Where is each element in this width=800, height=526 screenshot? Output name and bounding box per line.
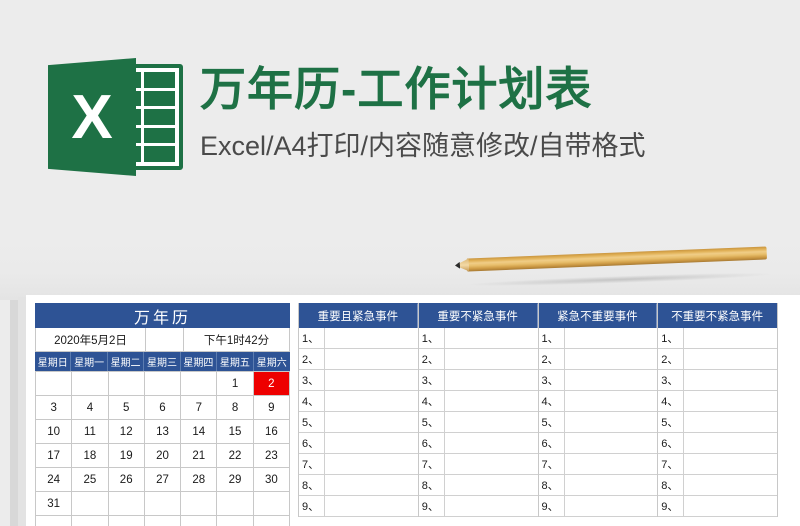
matrix-row-value-0-7[interactable] xyxy=(325,475,418,495)
matrix-row-number-3-6: 7、 xyxy=(658,454,684,474)
matrix-row: 6、 xyxy=(419,433,538,454)
calendar-blank-cell[interactable] xyxy=(146,328,184,351)
calendar-day-29[interactable]: 29 xyxy=(217,468,253,492)
matrix-row-number-2-2: 3、 xyxy=(539,370,565,390)
calendar-day-23[interactable]: 23 xyxy=(254,444,290,468)
matrix-row: 3、 xyxy=(419,370,538,391)
matrix-row-value-0-2[interactable] xyxy=(325,370,418,390)
matrix-row-value-3-2[interactable] xyxy=(684,370,777,390)
matrix-row-value-3-0[interactable] xyxy=(684,328,777,348)
calendar-day-20[interactable]: 20 xyxy=(145,444,181,468)
calendar-weekday-2: 星期二 xyxy=(108,352,144,371)
matrix-row-value-0-5[interactable] xyxy=(325,433,418,453)
matrix-row-number-0-7: 8、 xyxy=(299,475,325,495)
matrix-row-value-2-1[interactable] xyxy=(565,349,658,369)
calendar-day-9[interactable]: 9 xyxy=(254,396,290,420)
matrix-row: 1、 xyxy=(299,328,418,349)
matrix-row-value-1-1[interactable] xyxy=(445,349,538,369)
calendar-date-cell[interactable]: 2020年5月2日 xyxy=(36,328,146,351)
calendar-weekday-header: 星期日星期一星期二星期三星期四星期五星期六 xyxy=(35,352,290,371)
matrix-row-value-0-4[interactable] xyxy=(325,412,418,432)
matrix-row: 5、 xyxy=(658,412,777,433)
matrix-row: 2、 xyxy=(419,349,538,370)
matrix-row: 6、 xyxy=(658,433,777,454)
calendar-weekday-4: 星期四 xyxy=(181,352,217,371)
matrix-row: 4、 xyxy=(658,391,777,412)
calendar-day-22[interactable]: 22 xyxy=(217,444,253,468)
matrix-row-number-1-8: 9、 xyxy=(419,496,445,516)
calendar-day-empty xyxy=(145,516,181,526)
matrix-row-value-1-6[interactable] xyxy=(445,454,538,474)
matrix-row-value-2-5[interactable] xyxy=(565,433,658,453)
matrix-row-number-0-3: 4、 xyxy=(299,391,325,411)
matrix-row-value-2-7[interactable] xyxy=(565,475,658,495)
matrix-column-header-2: 紧急不重要事件 xyxy=(539,303,658,328)
matrix-row-number-2-8: 9、 xyxy=(539,496,565,516)
calendar-weekday-1: 星期一 xyxy=(71,352,107,371)
matrix-row: 1、 xyxy=(539,328,658,349)
matrix-row-number-1-2: 3、 xyxy=(419,370,445,390)
calendar-days-grid[interactable]: 1234567891011121314151617181920212223242… xyxy=(35,371,290,526)
calendar-day-14[interactable]: 14 xyxy=(181,420,217,444)
calendar-day-3[interactable]: 3 xyxy=(36,396,72,420)
matrix-row: 3、 xyxy=(658,370,777,391)
matrix-row-value-1-0[interactable] xyxy=(445,328,538,348)
calendar-day-empty xyxy=(181,492,217,516)
calendar-day-28[interactable]: 28 xyxy=(181,468,217,492)
matrix-row-number-0-5: 6、 xyxy=(299,433,325,453)
matrix-row-number-0-0: 1、 xyxy=(299,328,325,348)
calendar-day-empty xyxy=(109,372,145,396)
matrix-row-number-3-0: 1、 xyxy=(658,328,684,348)
matrix-row-number-1-6: 7、 xyxy=(419,454,445,474)
matrix-row-value-2-8[interactable] xyxy=(565,496,658,516)
matrix-row-number-2-4: 5、 xyxy=(539,412,565,432)
calendar-day-empty xyxy=(72,516,108,526)
calendar-day-empty xyxy=(109,516,145,526)
calendar-day-25[interactable]: 25 xyxy=(72,468,108,492)
matrix-row-value-3-7[interactable] xyxy=(684,475,777,495)
matrix-row: 3、 xyxy=(299,370,418,391)
matrix-row: 5、 xyxy=(419,412,538,433)
matrix-row-number-0-4: 5、 xyxy=(299,412,325,432)
calendar-weekday-5: 星期五 xyxy=(217,352,253,371)
matrix-row-number-3-1: 2、 xyxy=(658,349,684,369)
matrix-row-number-1-5: 6、 xyxy=(419,433,445,453)
matrix-row-value-3-8[interactable] xyxy=(684,496,777,516)
matrix-row-value-2-2[interactable] xyxy=(565,370,658,390)
calendar-day-30[interactable]: 30 xyxy=(254,468,290,492)
matrix-row-value-2-4[interactable] xyxy=(565,412,658,432)
matrix-row: 4、 xyxy=(299,391,418,412)
matrix-row: 4、 xyxy=(539,391,658,412)
matrix-column-2: 紧急不重要事件1、2、3、4、5、6、7、8、9、 xyxy=(538,303,658,517)
calendar-day-empty xyxy=(36,372,72,396)
calendar-day-empty xyxy=(145,492,181,516)
matrix-row: 8、 xyxy=(658,475,777,496)
matrix-row-number-1-0: 1、 xyxy=(419,328,445,348)
page-title: 万年历-工作计划表 xyxy=(200,66,592,112)
calendar-time-cell[interactable]: 下午1时42分 xyxy=(184,328,289,351)
matrix-row: 7、 xyxy=(299,454,418,475)
calendar-day-16[interactable]: 16 xyxy=(254,420,290,444)
calendar-weekday-0: 星期日 xyxy=(35,352,71,371)
calendar-weekday-6: 星期六 xyxy=(254,352,290,371)
matrix-row: 8、 xyxy=(299,475,418,496)
matrix-row-value-1-3[interactable] xyxy=(445,391,538,411)
matrix-row-number-3-5: 6、 xyxy=(658,433,684,453)
matrix-row-number-3-4: 5、 xyxy=(658,412,684,432)
matrix-row-value-0-0[interactable] xyxy=(325,328,418,348)
matrix-row: 4、 xyxy=(419,391,538,412)
calendar-day-24[interactable]: 24 xyxy=(36,468,72,492)
matrix-row-number-1-7: 8、 xyxy=(419,475,445,495)
matrix-row: 1、 xyxy=(419,328,538,349)
calendar-weekday-3: 星期三 xyxy=(144,352,180,371)
matrix-row-number-3-7: 8、 xyxy=(658,475,684,495)
matrix-row-value-1-2[interactable] xyxy=(445,370,538,390)
calendar-day-empty xyxy=(72,372,108,396)
matrix-column-1: 重要不紧急事件1、2、3、4、5、6、7、8、9、 xyxy=(418,303,538,517)
matrix-row: 6、 xyxy=(539,433,658,454)
matrix-column-header-1: 重要不紧急事件 xyxy=(419,303,538,328)
calendar-day-26[interactable]: 26 xyxy=(109,468,145,492)
matrix-row-number-1-4: 5、 xyxy=(419,412,445,432)
matrix-row-value-3-6[interactable] xyxy=(684,454,777,474)
calendar-title: 万年历 xyxy=(35,303,290,328)
matrix-row-value-0-1[interactable] xyxy=(325,349,418,369)
matrix-row-number-2-5: 6、 xyxy=(539,433,565,453)
calendar-day-empty xyxy=(109,492,145,516)
matrix-row-value-2-3[interactable] xyxy=(565,391,658,411)
matrix-row-value-1-4[interactable] xyxy=(445,412,538,432)
calendar-day-empty xyxy=(181,516,217,526)
matrix-row: 8、 xyxy=(539,475,658,496)
calendar-day-17[interactable]: 17 xyxy=(36,444,72,468)
matrix-row-value-0-3[interactable] xyxy=(325,391,418,411)
matrix-row-number-2-7: 8、 xyxy=(539,475,565,495)
header-banner: X 万年历-工作计划表 Excel/A4打印/内容随意修改/自带格式 xyxy=(0,0,800,238)
calendar-day-empty xyxy=(36,516,72,526)
spreadsheet-page: 万年历 2020年5月2日 下午1时42分 星期日星期一星期二星期三星期四星期五… xyxy=(26,295,800,526)
pencil-body xyxy=(467,246,767,271)
matrix-row-number-1-1: 2、 xyxy=(419,349,445,369)
matrix-row: 6、 xyxy=(299,433,418,454)
matrix-row: 7、 xyxy=(419,454,538,475)
calendar-day-6[interactable]: 6 xyxy=(145,396,181,420)
calendar-day-13[interactable]: 13 xyxy=(145,420,181,444)
calendar-day-empty xyxy=(181,372,217,396)
matrix-row-value-0-6[interactable] xyxy=(325,454,418,474)
matrix-row: 8、 xyxy=(419,475,538,496)
calendar-datetime-row: 2020年5月2日 下午1时42分 xyxy=(35,328,290,352)
matrix-column-header-3: 不重要不紧急事件 xyxy=(658,303,777,328)
matrix-row-value-3-5[interactable] xyxy=(684,433,777,453)
calendar-day-empty xyxy=(72,492,108,516)
matrix-row-number-0-1: 2、 xyxy=(299,349,325,369)
calendar-day-12[interactable]: 12 xyxy=(109,420,145,444)
matrix-row: 2、 xyxy=(539,349,658,370)
matrix-row: 7、 xyxy=(539,454,658,475)
calendar-day-7[interactable]: 7 xyxy=(181,396,217,420)
matrix-row: 2、 xyxy=(299,349,418,370)
calendar-day-2[interactable]: 2 xyxy=(254,372,290,396)
calendar-day-8[interactable]: 8 xyxy=(217,396,253,420)
calendar-day-empty xyxy=(145,372,181,396)
matrix-row-number-2-6: 7、 xyxy=(539,454,565,474)
calendar-day-10[interactable]: 10 xyxy=(36,420,72,444)
matrix-row: 9、 xyxy=(419,496,538,517)
page-subtitle: Excel/A4打印/内容随意修改/自带格式 xyxy=(200,133,646,160)
calendar-day-empty xyxy=(217,492,253,516)
matrix-row-value-1-5[interactable] xyxy=(445,433,538,453)
matrix-row-number-3-3: 4、 xyxy=(658,391,684,411)
matrix-row: 5、 xyxy=(299,412,418,433)
matrix-row-number-3-8: 9、 xyxy=(658,496,684,516)
calendar-day-27[interactable]: 27 xyxy=(145,468,181,492)
matrix-row-value-3-1[interactable] xyxy=(684,349,777,369)
matrix-row-number-0-2: 3、 xyxy=(299,370,325,390)
calendar-day-empty xyxy=(254,516,290,526)
calendar-day-31[interactable]: 31 xyxy=(36,492,72,516)
matrix-row-value-2-6[interactable] xyxy=(565,454,658,474)
matrix-row-number-0-6: 7、 xyxy=(299,454,325,474)
matrix-row: 5、 xyxy=(539,412,658,433)
matrix-row-number-2-3: 4、 xyxy=(539,391,565,411)
matrix-row-value-3-4[interactable] xyxy=(684,412,777,432)
calendar-day-18[interactable]: 18 xyxy=(72,444,108,468)
calendar-day-5[interactable]: 5 xyxy=(109,396,145,420)
matrix-row-value-1-7[interactable] xyxy=(445,475,538,495)
matrix-row: 7、 xyxy=(658,454,777,475)
calendar-day-empty xyxy=(254,492,290,516)
calendar-day-11[interactable]: 11 xyxy=(72,420,108,444)
matrix-row-value-0-8[interactable] xyxy=(325,496,418,516)
matrix-row-value-2-0[interactable] xyxy=(565,328,658,348)
excel-logo-letter: X xyxy=(48,58,136,176)
calendar-day-15[interactable]: 15 xyxy=(217,420,253,444)
matrix-row-number-2-0: 1、 xyxy=(539,328,565,348)
calendar-day-1[interactable]: 1 xyxy=(217,372,253,396)
matrix-row-number-3-2: 3、 xyxy=(658,370,684,390)
matrix-column-3: 不重要不紧急事件1、2、3、4、5、6、7、8、9、 xyxy=(657,303,778,517)
matrix-row-number-1-3: 4、 xyxy=(419,391,445,411)
matrix-row-value-3-3[interactable] xyxy=(684,391,777,411)
calendar-day-19[interactable]: 19 xyxy=(109,444,145,468)
matrix-row: 9、 xyxy=(539,496,658,517)
matrix-row: 1、 xyxy=(658,328,777,349)
calendar-day-4[interactable]: 4 xyxy=(72,396,108,420)
matrix-row: 3、 xyxy=(539,370,658,391)
matrix-row-number-0-8: 9、 xyxy=(299,496,325,516)
calendar-widget[interactable]: 万年历 2020年5月2日 下午1时42分 星期日星期一星期二星期三星期四星期五… xyxy=(35,303,290,526)
pencil-lead xyxy=(455,262,460,269)
matrix-row-value-1-8[interactable] xyxy=(445,496,538,516)
matrix-row: 9、 xyxy=(299,496,418,517)
priority-matrix-table[interactable]: 重要且紧急事件1、2、3、4、5、6、7、8、9、重要不紧急事件1、2、3、4、… xyxy=(298,303,778,517)
matrix-row: 2、 xyxy=(658,349,777,370)
matrix-column-0: 重要且紧急事件1、2、3、4、5、6、7、8、9、 xyxy=(298,303,418,517)
calendar-day-empty xyxy=(217,516,253,526)
calendar-day-21[interactable]: 21 xyxy=(181,444,217,468)
excel-logo-icon: X xyxy=(48,58,188,176)
matrix-row-number-2-1: 2、 xyxy=(539,349,565,369)
matrix-column-header-0: 重要且紧急事件 xyxy=(299,303,418,328)
matrix-row: 9、 xyxy=(658,496,777,517)
